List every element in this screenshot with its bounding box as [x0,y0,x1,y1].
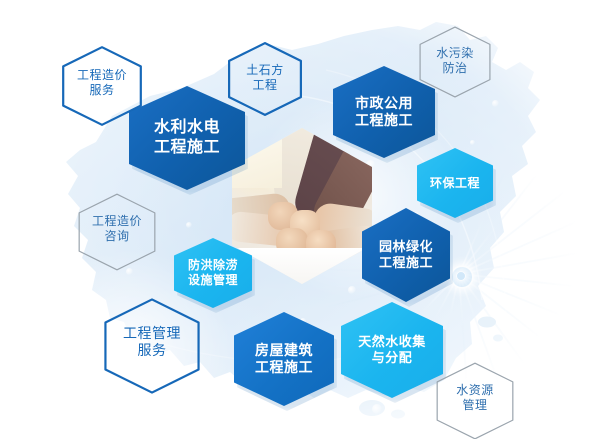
hexagon-earthwork-engineering[interactable]: 土石方工程 [228,42,302,114]
hexagon-landscaping-engineering-construction[interactable]: 园林绿化工程施工 [362,208,450,302]
hexagon-label: 水利水电工程施工 [154,118,220,157]
bokeh-dot [348,286,356,294]
hexagon-engineering-management-service[interactable]: 工程管理服务 [104,298,200,386]
network-hub-node-inner [456,271,466,281]
hexagon-label-line: 设施管理 [188,273,238,288]
hexagon-label-line: 工程施工 [255,359,313,376]
hexagon-label-line: 工程造价 [92,214,142,229]
hexagon-engineering-cost-consulting[interactable]: 工程造价咨询 [78,193,156,265]
bokeh-dot [534,250,540,256]
hexagon-label: 天然水收集与分配 [358,334,426,366]
hexagon-label: 水污染防治 [436,46,474,75]
hexagon-label-line: 工程施工 [154,138,220,158]
hexagon-label-line: 土石方 [246,63,284,78]
bokeh-dot [186,222,192,228]
hexagon-label: 房屋建筑工程施工 [255,342,313,376]
hexagon-label-line: 环保工程 [430,176,480,191]
hexagon-label: 园林绿化工程施工 [379,239,433,271]
hexagon-label: 工程管理服务 [123,325,181,359]
hexagon-label: 土石方工程 [246,63,284,92]
hexagon-label-line: 管理 [456,398,494,413]
hexagon-label-line: 房屋建筑 [255,342,313,359]
hexagon-label-line: 咨询 [92,229,142,244]
network-hub-node [450,265,474,289]
hexagon-label-line: 工程造价 [77,68,127,83]
hexagon-label-line: 与分配 [358,350,426,366]
hexagon-label-line: 园林绿化 [379,239,433,255]
bokeh-dot [470,140,475,145]
hexagon-natural-water-collection-distribution[interactable]: 天然水收集与分配 [341,302,443,398]
hexagon-label: 防洪除涝设施管理 [188,258,238,287]
infographic-canvas: 工程造价服务土石方工程水污染防治水利水电工程施工市政公用工程施工环保工程工程造价… [0,0,600,439]
hexagon-label: 工程造价咨询 [92,214,142,243]
hexagon-water-pollution-control[interactable]: 水污染防治 [419,26,491,96]
hexagon-label-line: 工程 [246,78,284,93]
hexagon-label: 工程造价服务 [77,68,127,97]
hexagon-water-resource-management[interactable]: 水资源管理 [436,362,514,434]
hexagon-engineering-cost-service[interactable]: 工程造价服务 [62,46,142,120]
hexagon-label-line: 水污染 [436,46,474,61]
hexagon-label-line: 水利水电 [154,118,220,138]
hexagon-label-line: 防洪除涝 [188,258,238,273]
hexagon-label-line: 工程施工 [379,255,433,271]
hexagon-label-line: 水资源 [456,383,494,398]
hexagon-label-line: 服务 [77,83,127,98]
hexagon-label: 环保工程 [430,176,480,191]
hexagon-label: 水资源管理 [456,383,494,412]
hexagon-label-line: 天然水收集 [358,334,426,350]
hexagon-label: 市政公用工程施工 [355,95,413,129]
hexagon-label-line: 工程管理 [123,325,181,342]
hexagon-label-line: 工程施工 [355,112,413,129]
hexagon-label-line: 防治 [436,61,474,76]
bokeh-dot [372,404,382,414]
hexagon-label-line: 市政公用 [355,95,413,112]
bokeh-dot [492,100,499,107]
hexagon-building-construction-engineering[interactable]: 房屋建筑工程施工 [234,312,334,406]
hexagon-label-line: 服务 [123,342,181,359]
